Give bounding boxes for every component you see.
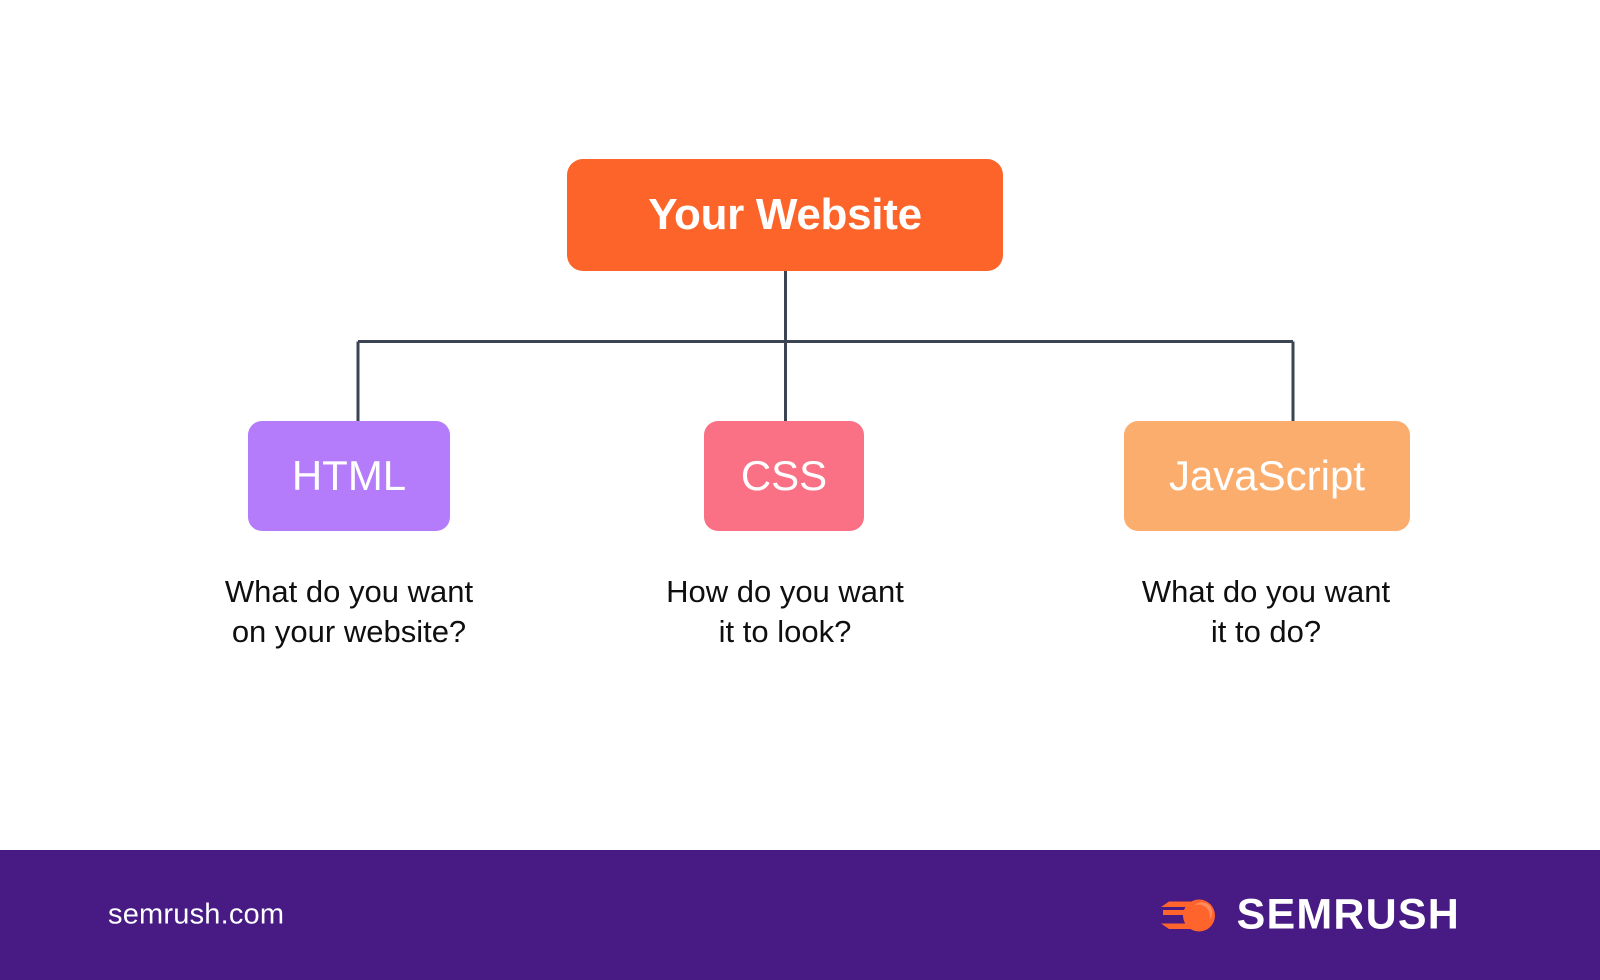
semrush-logo[interactable]: SEMRUSH bbox=[1161, 891, 1460, 940]
semrush-comet-icon bbox=[1161, 892, 1223, 938]
node-css[interactable]: CSS bbox=[704, 421, 864, 531]
node-your-website-label: Your Website bbox=[648, 193, 921, 237]
node-javascript-label: JavaScript bbox=[1169, 455, 1365, 497]
footer-website-url[interactable]: semrush.com bbox=[108, 899, 284, 932]
footer-bar: semrush.com SEMRUSH bbox=[0, 850, 1600, 980]
node-css-label: CSS bbox=[741, 455, 827, 497]
caption-css: How do you want it to look? bbox=[595, 572, 975, 651]
caption-javascript: What do you want it to do? bbox=[1076, 572, 1456, 651]
node-html-label: HTML bbox=[292, 455, 406, 497]
caption-html: What do you want on your website? bbox=[159, 572, 539, 651]
node-your-website[interactable]: Your Website bbox=[567, 159, 1003, 271]
website-technology-tree-diagram: Your Website HTML CSS JavaScript What do… bbox=[0, 0, 1600, 850]
node-html[interactable]: HTML bbox=[248, 421, 450, 531]
node-javascript[interactable]: JavaScript bbox=[1124, 421, 1410, 531]
semrush-wordmark: SEMRUSH bbox=[1237, 891, 1460, 940]
slide-canvas: Your Website HTML CSS JavaScript What do… bbox=[0, 0, 1600, 980]
